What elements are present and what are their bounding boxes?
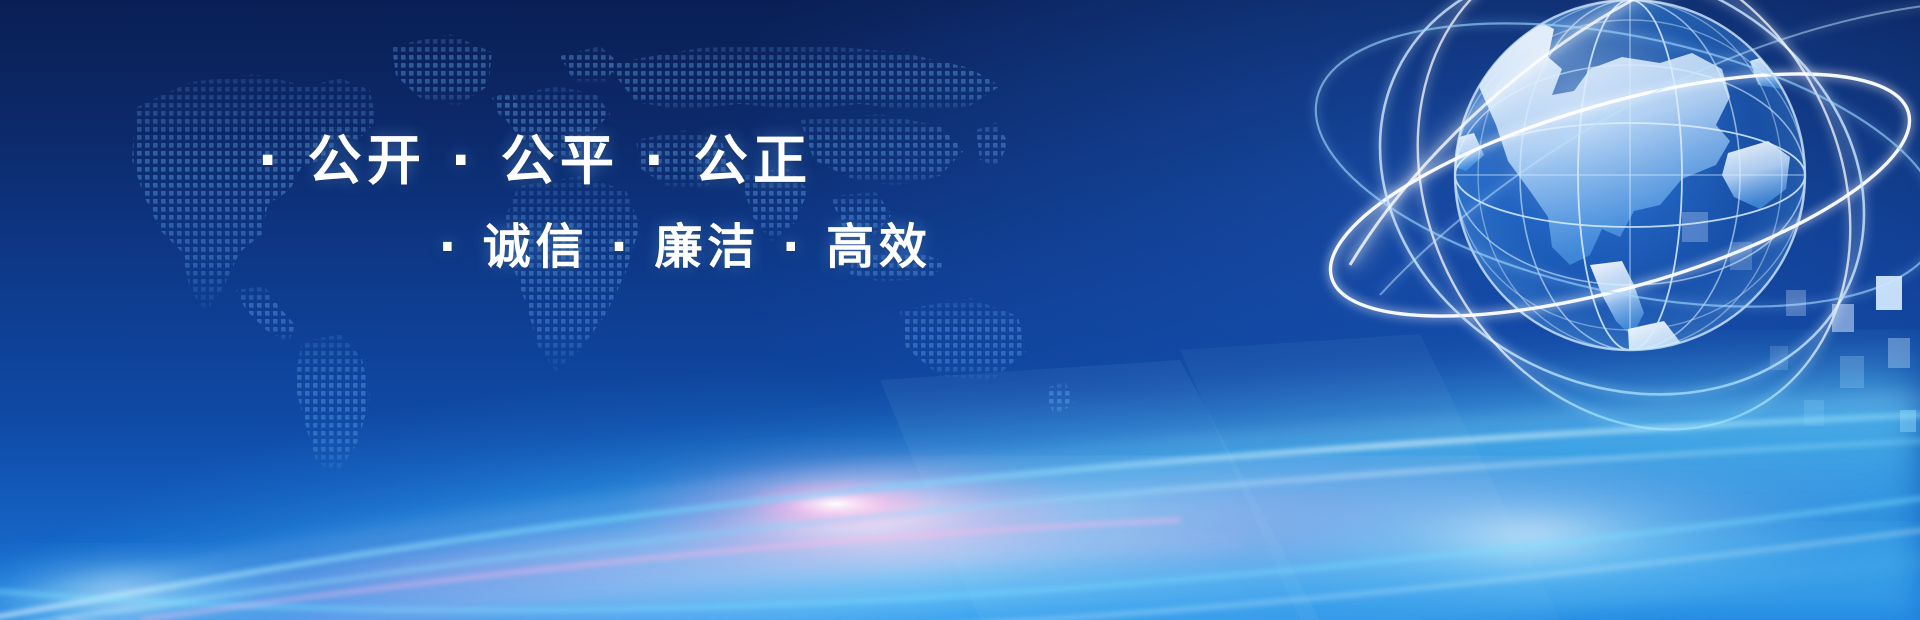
wireframe-globe <box>1230 0 1920 485</box>
dotted-world-map <box>40 0 1200 470</box>
slogan-block: · 公开 · 公平 · 公正 · 诚信 · 廉洁 · 高效 <box>0 130 1070 276</box>
banner-root: · 公开 · 公平 · 公正 · 诚信 · 廉洁 · 高效 <box>0 0 1920 620</box>
globe-continents <box>1444 17 1796 435</box>
slogan-line-1: · 公开 · 公平 · 公正 <box>0 130 1070 192</box>
slogan-line-2: · 诚信 · 廉洁 · 高效 <box>0 218 1070 276</box>
bottom-light-wave <box>0 290 1920 620</box>
square-9 <box>1682 212 1708 242</box>
orbital-light-rings <box>1290 0 1920 506</box>
square-10 <box>1900 410 1916 432</box>
square-4 <box>1888 338 1910 368</box>
square-8 <box>1730 242 1752 270</box>
square-1 <box>1876 276 1902 310</box>
square-2 <box>1832 304 1854 332</box>
square-3 <box>1786 290 1806 316</box>
square-5 <box>1840 356 1864 388</box>
decorative-squares <box>1620 260 1920 480</box>
square-7 <box>1804 400 1824 426</box>
globe-wireframe <box>1455 0 1805 350</box>
square-6 <box>1770 346 1788 370</box>
